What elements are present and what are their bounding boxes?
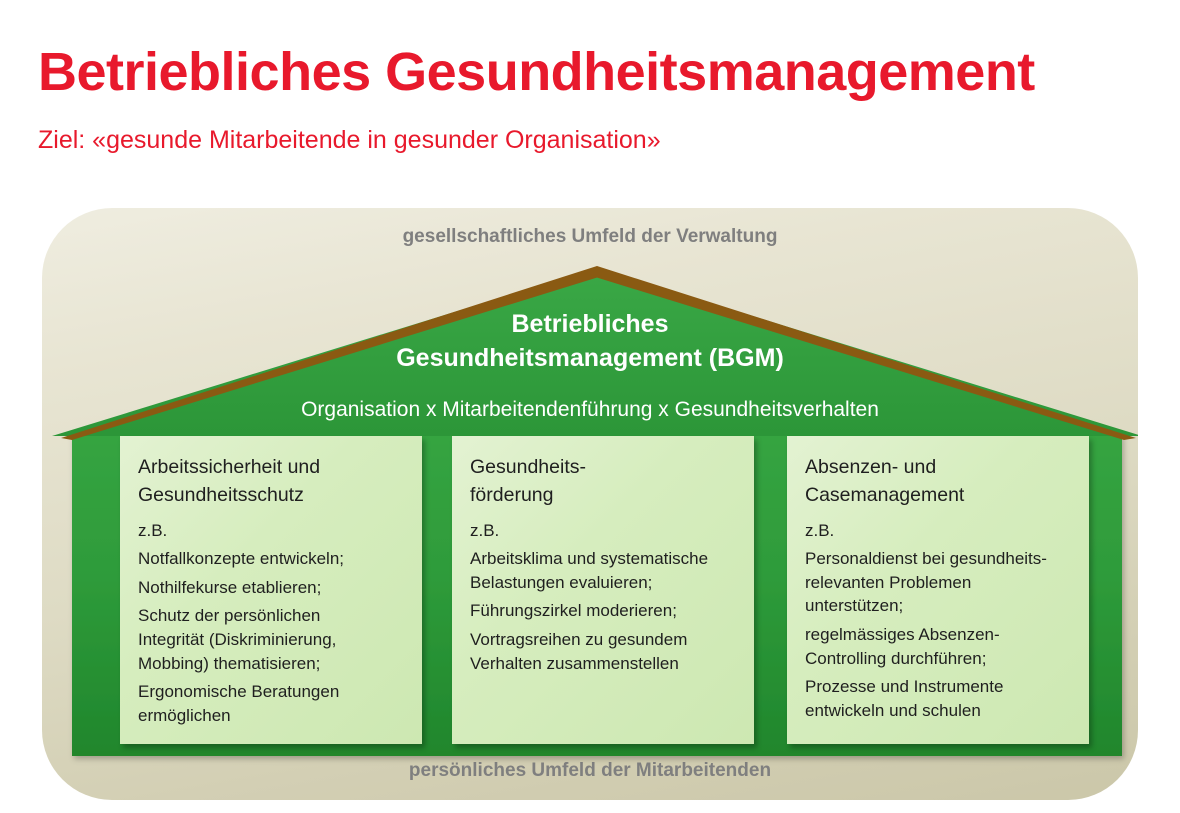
pillar-gesundheitsfoerderung[interactable]: Gesundheits- förderung z.B. Arbeitsklima… — [452, 436, 754, 744]
pillar-item: Vortragsreihen zu gesundem Verhalten zus… — [470, 628, 738, 675]
pillar-item: Schutz der persönlichen Integrität (Disk… — [138, 604, 406, 675]
pillar-title: Gesundheits- förderung — [470, 454, 738, 509]
pillar-item: Ergonomische Beratungen ermöglichen — [138, 680, 406, 727]
pillar-example-label: z.B. — [470, 519, 738, 543]
pillars-container: Arbeitssicherheit und Gesundheitsschutz … — [42, 208, 1138, 800]
pillar-item: Führungszirkel moderieren; — [470, 599, 738, 623]
pillar-example-label: z.B. — [138, 519, 406, 543]
pillar-title: Absenzen- und Casemanagement — [805, 454, 1073, 509]
pillar-item: Prozesse und Instrumente entwickeln und … — [805, 675, 1073, 722]
pillar-item: Notfallkonzepte entwickeln; — [138, 547, 406, 571]
pillar-absenzen-casemanagement[interactable]: Absenzen- und Casemanagement z.B. Person… — [787, 436, 1089, 744]
pillar-item: Arbeitsklima und systematische Belastung… — [470, 547, 738, 594]
pillar-title: Arbeitssicherheit und Gesundheitsschutz — [138, 454, 406, 509]
pillar-arbeitssicherheit[interactable]: Arbeitssicherheit und Gesundheitsschutz … — [120, 436, 422, 744]
page-subtitle: Ziel: «gesunde Mitarbeitende in gesunder… — [38, 126, 661, 155]
pillar-item: regelmässiges Absenzen- Controlling durc… — [805, 623, 1073, 670]
pillar-item: Personaldienst bei gesundheits- relevant… — [805, 547, 1073, 618]
pillar-item: Nothilfekurse etablieren; — [138, 576, 406, 600]
pillar-example-label: z.B. — [805, 519, 1073, 543]
page-title: Betriebliches Gesundheitsmanagement — [38, 44, 1035, 101]
